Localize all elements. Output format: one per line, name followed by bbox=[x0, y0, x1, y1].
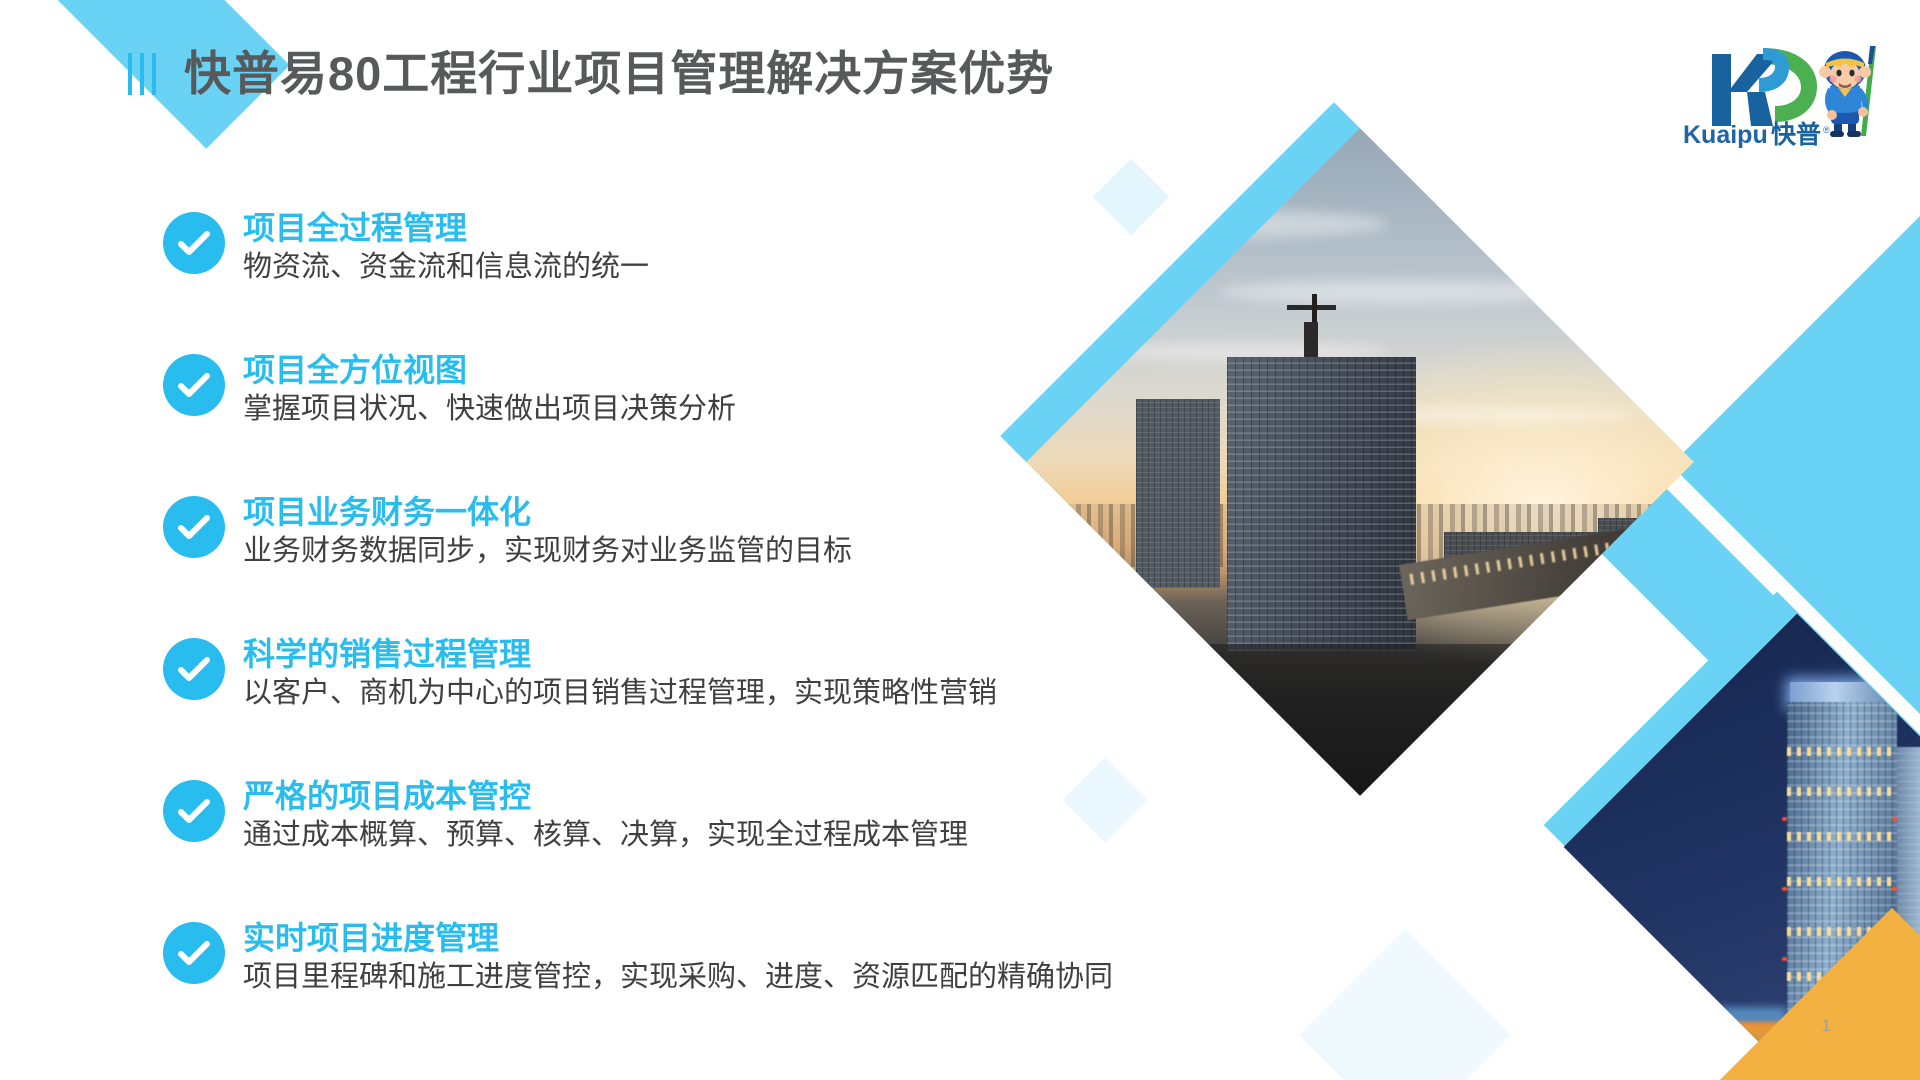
slide-canvas: 快普易80工程行业项目管理解决方案优势 Kuaipu 快普 ® bbox=[0, 0, 1920, 1080]
kuaipu-logo: Kuaipu 快普 ® bbox=[1677, 30, 1892, 148]
triple-bar-icon bbox=[128, 53, 156, 95]
list-item-heading: 项目全方位视图 bbox=[243, 352, 1243, 390]
slide-header: 快普易80工程行业项目管理解决方案优势 bbox=[128, 50, 1054, 97]
list-item-heading: 科学的销售过程管理 bbox=[243, 636, 1243, 674]
list-item-subtext: 以客户、商机为中心的项目销售过程管理，实现策略性营销 bbox=[243, 675, 1243, 711]
list-item-subtext: 物资流、资金流和信息流的统一 bbox=[243, 249, 1243, 285]
list-item-heading: 项目全过程管理 bbox=[243, 210, 1243, 248]
check-circle-icon bbox=[163, 638, 225, 700]
list-item: 实时项目进度管理 项目里程碑和施工进度管控，实现采购、进度、资源匹配的精确协同 bbox=[163, 920, 1243, 1016]
decor-pale-diamond-large bbox=[1299, 929, 1511, 1080]
advantages-list: 项目全过程管理 物资流、资金流和信息流的统一 项目全方位视图 掌握项目状况、快速… bbox=[163, 210, 1243, 1016]
svg-text:Kuaipu: Kuaipu bbox=[1683, 121, 1768, 148]
check-circle-icon bbox=[163, 922, 225, 984]
page-title: 快普易80工程行业项目管理解决方案优势 bbox=[184, 50, 1054, 97]
list-item: 科学的销售过程管理 以客户、商机为中心的项目销售过程管理，实现策略性营销 bbox=[163, 636, 1243, 732]
check-circle-icon bbox=[163, 212, 225, 274]
svg-text:®: ® bbox=[1823, 125, 1830, 135]
list-item: 项目全过程管理 物资流、资金流和信息流的统一 bbox=[163, 210, 1243, 306]
list-item-heading: 项目业务财务一体化 bbox=[243, 494, 1243, 532]
list-item-subtext: 项目里程碑和施工进度管控，实现采购、进度、资源匹配的精确协同 bbox=[243, 959, 1243, 995]
list-item-subtext: 掌握项目状况、快速做出项目决策分析 bbox=[243, 391, 1243, 427]
list-item: 项目全方位视图 掌握项目状况、快速做出项目决策分析 bbox=[163, 352, 1243, 448]
list-item-subtext: 通过成本概算、预算、核算、决算，实现全过程成本管理 bbox=[243, 817, 1243, 853]
list-item-subtext: 业务财务数据同步，实现财务对业务监管的目标 bbox=[243, 533, 1243, 569]
list-item: 严格的项目成本管控 通过成本概算、预算、核算、决算，实现全过程成本管理 bbox=[163, 778, 1243, 874]
check-circle-icon bbox=[163, 496, 225, 558]
list-item-heading: 严格的项目成本管控 bbox=[243, 778, 1243, 816]
list-item-heading: 实时项目进度管理 bbox=[243, 920, 1243, 958]
svg-text:快普: 快普 bbox=[1771, 120, 1821, 148]
page-number: 1 bbox=[1822, 1016, 1831, 1036]
check-circle-icon bbox=[163, 780, 225, 842]
list-item: 项目业务财务一体化 业务财务数据同步，实现财务对业务监管的目标 bbox=[163, 494, 1243, 590]
check-circle-icon bbox=[163, 354, 225, 416]
